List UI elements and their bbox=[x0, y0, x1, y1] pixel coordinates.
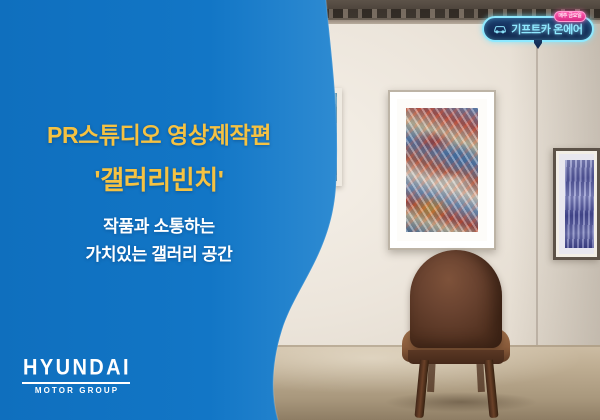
giftcar-onair-badge-label: 기프트카 온에어 bbox=[511, 21, 583, 37]
hyundai-logo-rule bbox=[22, 382, 130, 384]
headline-line-2: '갤러리빈치' bbox=[0, 160, 318, 197]
video-thumbnail: PR스튜디오 영상제작편 '갤러리빈치' 작품과 소통하는 가치있는 갤러리 공… bbox=[0, 0, 600, 420]
headline-line-1: PR스튜디오 영상제작편 bbox=[0, 116, 318, 150]
hyundai-logo-group: MOTOR GROUP bbox=[22, 387, 132, 395]
giftcar-onair-badge[interactable]: 기프트카 온에어 매주 금요일 bbox=[482, 16, 594, 50]
subtitle-line-2: 가치있는 갤러리 공간 bbox=[0, 240, 318, 265]
hyundai-logo-brand: HYUNDAI bbox=[22, 357, 132, 379]
subtitle-line-1: 작품과 소통하는 bbox=[0, 212, 318, 237]
badge-tail bbox=[532, 40, 544, 49]
car-icon bbox=[493, 24, 507, 34]
badge-schedule-pill: 매주 금요일 bbox=[554, 11, 586, 22]
hyundai-logo: HYUNDAI MOTOR GROUP bbox=[22, 358, 132, 395]
badge-schedule-pill-label: 매주 금요일 bbox=[558, 14, 581, 19]
